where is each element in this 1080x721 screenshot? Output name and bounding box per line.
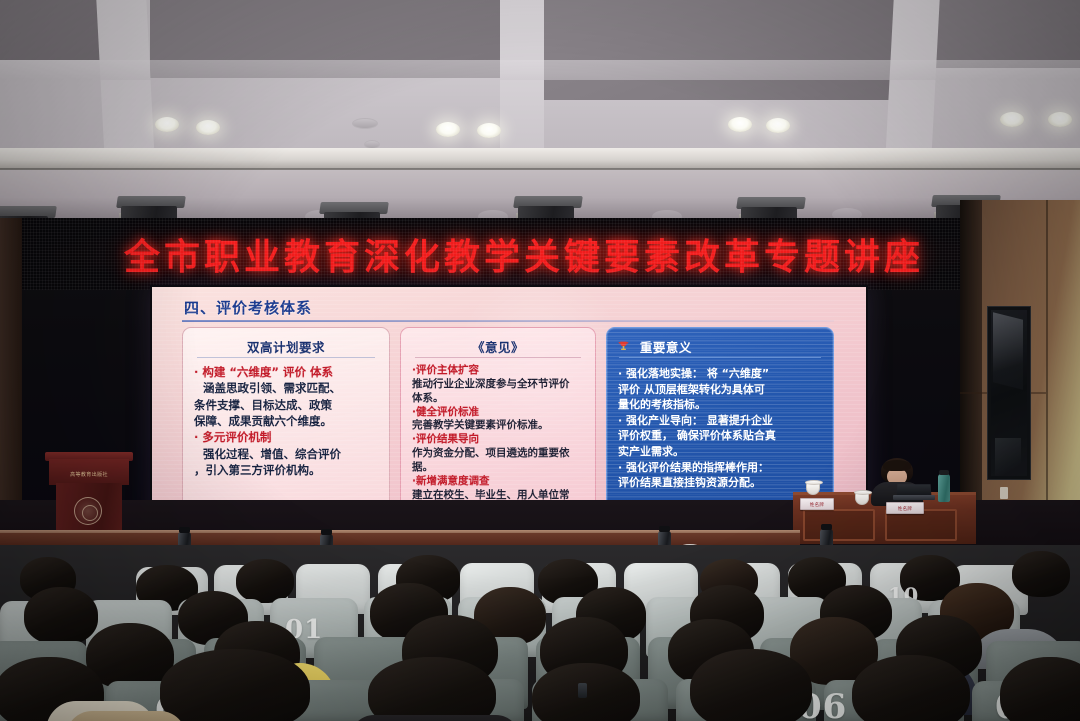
ceiling-edge-trim <box>0 148 1080 170</box>
audience-area: 10 01 01 <box>0 545 1080 721</box>
downlight <box>1048 112 1072 127</box>
nameplate-left: 姓名牌 <box>800 498 834 510</box>
podium-label: 高等教育出版社 <box>49 471 129 478</box>
slide-title-rule <box>182 320 834 322</box>
ceiling-coffer <box>540 0 900 100</box>
slide-panel-yijian: 《意见》 ·评价主体扩容 推动行业企业深度参与全环节评价 体系。 ·健全评价标准… <box>400 327 596 517</box>
left-side-wall <box>0 218 22 548</box>
ceiling-coffer <box>0 0 100 60</box>
downlight <box>155 117 179 132</box>
downlight <box>477 123 501 138</box>
audience-head <box>690 649 812 721</box>
panel-body: · 强化落地实操： 将 “六维度” 评价 从顶层框架转化为具体可 量化的考核指标… <box>618 366 824 491</box>
podium: 高等教育出版社 <box>45 452 133 538</box>
auditorium-photo: 全市职业教育深化教学关键要素改革专题讲座 四、评价考核体系 双高计划要求 · 构… <box>0 0 1080 721</box>
audience-head <box>24 587 98 645</box>
smoke-detector-icon <box>352 118 378 129</box>
audience-head <box>1012 551 1070 597</box>
podium-emblem-icon <box>74 497 102 525</box>
projected-slide: 四、评价考核体系 双高计划要求 · 构建 “六维度” 评价 体系 涵盖思政引领、… <box>152 287 866 533</box>
downlight <box>728 117 752 132</box>
thermos-bottle <box>938 474 950 502</box>
audience-shoulders <box>66 711 186 721</box>
trophy-icon <box>617 340 630 356</box>
ceiling <box>0 0 1080 160</box>
audience-head <box>160 649 310 721</box>
panel-body: · 构建 “六维度” 评价 体系 涵盖思政引领、需求匹配、 条件支撑、目标达成、… <box>194 364 380 478</box>
audience-head <box>236 559 294 603</box>
slide-panel-zhongyao: 重要意义 · 强化落地实操： 将 “六维度” 评价 从顶层框架转化为具体可 量化… <box>606 327 834 517</box>
downlight <box>766 118 790 133</box>
panel-header: 《意见》 <box>401 328 595 356</box>
audience-shoulders <box>350 715 520 721</box>
downlight <box>1000 112 1024 127</box>
led-banner: 全市职业教育深化教学关键要素改革专题讲座 <box>18 218 1030 290</box>
mobile-phone[interactable] <box>578 683 587 698</box>
ceiling-beam <box>0 60 1080 80</box>
wall-monitor <box>988 307 1030 479</box>
nameplate-right: 姓名牌 <box>886 502 924 514</box>
panel-header: 重要意义 <box>607 328 833 356</box>
panel-header: 双高计划要求 <box>183 328 389 356</box>
panel-body: ·评价主体扩容 推动行业企业深度参与全环节评价 体系。 ·健全评价标准 完善教学… <box>412 364 586 516</box>
downlight <box>436 122 460 137</box>
laptop <box>893 484 935 500</box>
slide-title: 四、评价考核体系 <box>184 297 312 318</box>
monitor-button[interactable] <box>1000 487 1008 499</box>
audience-head <box>852 655 970 721</box>
ceiling-coffer <box>930 0 1080 68</box>
audience-head <box>368 657 496 721</box>
slide-panel-shuanggao: 双高计划要求 · 构建 “六维度” 评价 体系 涵盖思政引领、需求匹配、 条件支… <box>182 327 390 517</box>
downlight <box>196 120 220 135</box>
panel-header-label: 重要意义 <box>640 340 692 355</box>
